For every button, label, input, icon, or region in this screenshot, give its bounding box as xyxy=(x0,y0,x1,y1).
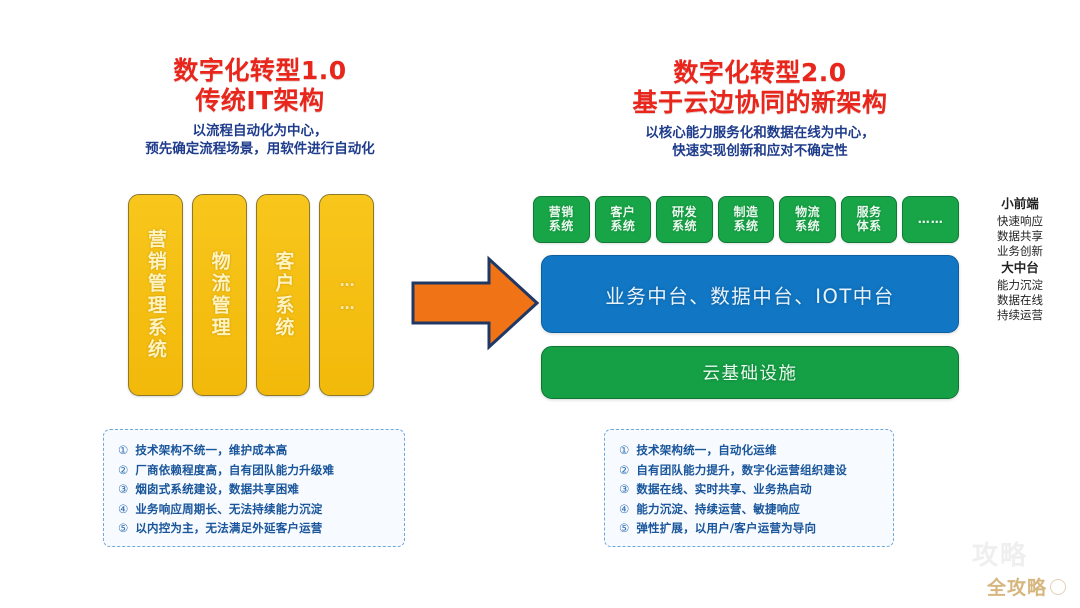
left-subtitle-line2: 预先确定流程场景，用软件进行自动化 xyxy=(110,141,410,159)
left-subtitle: 以流程自动化为中心， 预先确定流程场景，用软件进行自动化 xyxy=(110,123,410,159)
bullet-text: 技术架构不统一，维护成本高 xyxy=(135,442,287,458)
app-box-line2: 系统 xyxy=(549,220,574,233)
legacy-system-label-more: …… xyxy=(339,272,354,318)
app-box-customer[interactable]: 客户 系统 xyxy=(595,196,652,243)
app-box-line2: 系统 xyxy=(610,220,635,233)
right-arrow-icon xyxy=(411,255,539,351)
bullet-text: 技术架构统一，自动化运维 xyxy=(636,442,776,458)
legacy-system-label: 营销管理系统 xyxy=(146,229,165,361)
legacy-system-box[interactable]: 物流管理 xyxy=(192,194,247,396)
legacy-system-label: 物流管理 xyxy=(210,251,229,339)
app-box-line1: 客户 xyxy=(610,206,635,219)
list-item: ③ 数据在线、实时共享、业务热启动 xyxy=(619,481,879,497)
legacy-system-label: 客户系统 xyxy=(273,251,292,339)
bullet-number: ③ xyxy=(619,482,629,496)
middle-platform-box[interactable]: 业务中台、数据中台、IOT中台 xyxy=(541,255,959,333)
bullet-number: ⑤ xyxy=(619,521,629,535)
app-box-service[interactable]: 服务 体系 xyxy=(841,196,898,243)
middle-platform-label: 业务中台、数据中台、IOT中台 xyxy=(605,280,895,309)
app-box-manufacturing[interactable]: 制造 系统 xyxy=(718,196,775,243)
bullet-text: 自有团队能力提升，数字化运营组织建设 xyxy=(636,462,847,478)
list-item: ⑤ 以内控为主，无法满足外延客户运营 xyxy=(118,520,390,536)
app-box-more[interactable]: …… xyxy=(902,196,959,243)
annotation-line: 数据在线 xyxy=(972,293,1068,308)
cloud-infrastructure-label: 云基础设施 xyxy=(703,360,798,385)
bullet-number: ① xyxy=(619,443,629,457)
app-box-line2: 系统 xyxy=(672,220,697,233)
bullet-number: ④ xyxy=(118,502,128,516)
list-item: ④ 业务响应周期长、无法持续能力沉淀 xyxy=(118,501,390,517)
list-item: ④ 能力沉淀、持续运营、敏捷响应 xyxy=(619,501,879,517)
left-subtitle-line1: 以流程自动化为中心， xyxy=(110,123,410,141)
bullet-text: 烟囱式系统建设，数据共享困难 xyxy=(135,481,299,497)
bullet-number: ⑤ xyxy=(118,521,128,535)
left-issues-panel: ① 技术架构不统一，维护成本高 ② 厂商依赖程度高，自有团队能力升级难 ③ 烟囱… xyxy=(103,429,405,547)
watermark: 全攻略 xyxy=(987,573,1066,600)
slide-canvas: 数字化转型1.0 传统IT架构 以流程自动化为中心， 预先确定流程场景，用软件进… xyxy=(0,0,1080,608)
bullet-number: ① xyxy=(118,443,128,457)
bullet-number: ② xyxy=(118,463,128,477)
annotation-line: 持续运营 xyxy=(972,308,1068,323)
app-box-line1: 研发 xyxy=(672,206,697,219)
list-item: ① 技术架构不统一，维护成本高 xyxy=(118,442,390,458)
app-box-marketing[interactable]: 营销 系统 xyxy=(533,196,590,243)
bullet-number: ② xyxy=(619,463,629,477)
annotation-heading: 大中台 xyxy=(972,260,1068,276)
watermark-ghost-text: 攻略 xyxy=(972,535,1028,572)
list-item: ⑤ 弹性扩展，以用户/客户运营为导向 xyxy=(619,520,879,536)
list-item: ② 自有团队能力提升，数字化运营组织建设 xyxy=(619,462,879,478)
left-title-block: 数字化转型1.0 传统IT架构 以流程自动化为中心， 预先确定流程场景，用软件进… xyxy=(110,56,410,159)
legacy-system-box[interactable]: 客户系统 xyxy=(256,194,311,396)
app-box-line2: 系统 xyxy=(734,220,759,233)
legacy-system-box-more[interactable]: …… xyxy=(319,194,374,396)
bullet-text: 能力沉淀、持续运营、敏捷响应 xyxy=(636,501,800,517)
legacy-system-stack: 营销管理系统 物流管理 客户系统 …… xyxy=(128,194,374,396)
watermark-text: 全攻略 xyxy=(987,573,1047,600)
front-end-app-row: 营销 系统 客户 系统 研发 系统 制造 系统 物流 系统 服务 体系 …… xyxy=(533,196,959,243)
annotation-line: 业务创新 xyxy=(972,244,1068,259)
bullet-number: ③ xyxy=(118,482,128,496)
right-title-line1: 数字化转型2.0 xyxy=(560,58,960,88)
left-title-main: 数字化转型1.0 传统IT架构 xyxy=(110,56,410,116)
app-box-line1: 制造 xyxy=(734,206,759,219)
app-box-line1: 服务 xyxy=(857,206,882,219)
app-box-line1: 营销 xyxy=(549,206,574,219)
app-box-line2: 体系 xyxy=(857,220,882,233)
right-subtitle-line1: 以核心能力服务化和数据在线为中心， xyxy=(560,125,960,143)
bullet-text: 弹性扩展，以用户/客户运营为导向 xyxy=(636,520,816,536)
watermark-circle-icon xyxy=(1050,579,1066,595)
annotation-heading: 小前端 xyxy=(972,196,1068,212)
annotation-small-frontend: 小前端 快速响应 数据共享 业务创新 xyxy=(972,196,1068,259)
list-item: ① 技术架构统一，自动化运维 xyxy=(619,442,879,458)
right-subtitle: 以核心能力服务化和数据在线为中心， 快速实现创新和应对不确定性 xyxy=(560,125,960,161)
bullet-text: 数据在线、实时共享、业务热启动 xyxy=(636,481,812,497)
right-title-main: 数字化转型2.0 基于云边协同的新架构 xyxy=(560,58,960,118)
left-title-line1: 数字化转型1.0 xyxy=(110,56,410,86)
bullet-number: ④ xyxy=(619,502,629,516)
right-title-block: 数字化转型2.0 基于云边协同的新架构 以核心能力服务化和数据在线为中心， 快速… xyxy=(560,58,960,161)
right-subtitle-line2: 快速实现创新和应对不确定性 xyxy=(560,143,960,161)
cloud-infrastructure-box[interactable]: 云基础设施 xyxy=(541,346,959,399)
right-title-line2: 基于云边协同的新架构 xyxy=(560,88,960,118)
annotation-line: 快速响应 xyxy=(972,214,1068,229)
left-title-line2: 传统IT架构 xyxy=(110,86,410,116)
app-box-logistics[interactable]: 物流 系统 xyxy=(779,196,836,243)
bullet-text: 业务响应周期长、无法持续能力沉淀 xyxy=(135,501,322,517)
bullet-text: 厂商依赖程度高，自有团队能力升级难 xyxy=(135,462,334,478)
app-box-line1: 物流 xyxy=(795,206,820,219)
right-benefits-panel: ① 技术架构统一，自动化运维 ② 自有团队能力提升，数字化运营组织建设 ③ 数据… xyxy=(604,429,894,547)
list-item: ② 厂商依赖程度高，自有团队能力升级难 xyxy=(118,462,390,478)
legacy-system-box[interactable]: 营销管理系统 xyxy=(128,194,183,396)
annotation-line: 能力沉淀 xyxy=(972,278,1068,293)
app-box-rnd[interactable]: 研发 系统 xyxy=(656,196,713,243)
app-box-line2: 系统 xyxy=(795,220,820,233)
annotation-large-midplatform: 大中台 能力沉淀 数据在线 持续运营 xyxy=(972,260,1068,323)
bullet-text: 以内控为主，无法满足外延客户运营 xyxy=(135,520,322,536)
list-item: ③ 烟囱式系统建设，数据共享困难 xyxy=(118,481,390,497)
app-box-line1: …… xyxy=(918,213,944,226)
annotation-line: 数据共享 xyxy=(972,229,1068,244)
